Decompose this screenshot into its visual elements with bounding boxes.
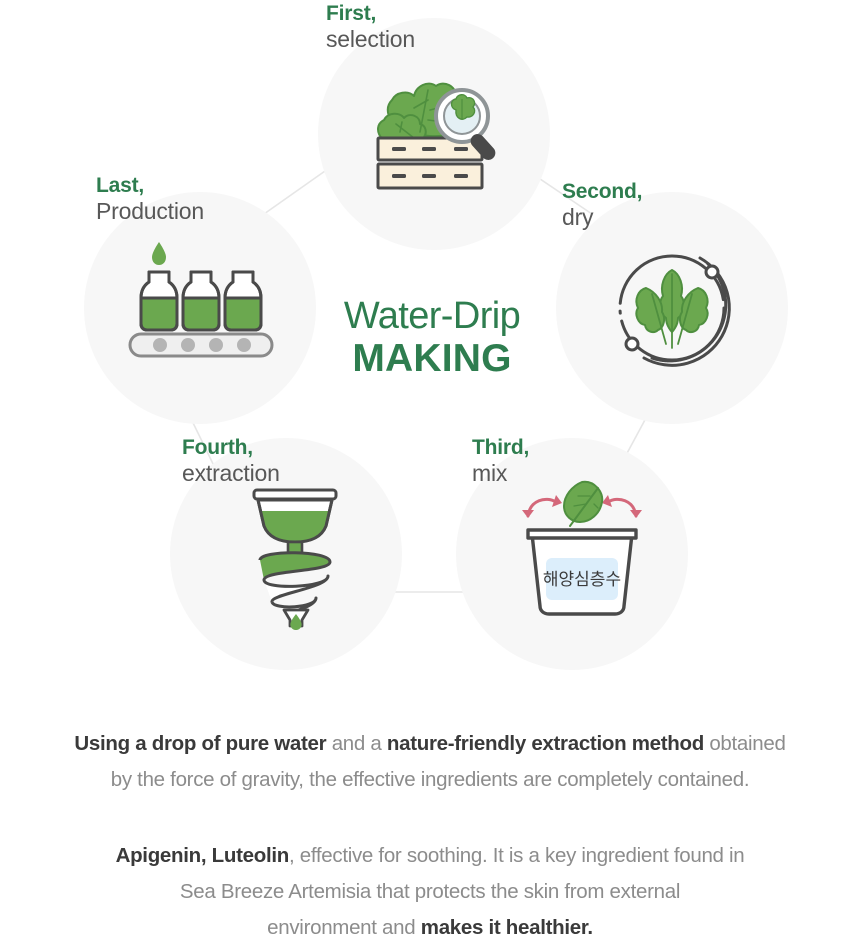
step-ordinal: Third,	[472, 436, 529, 460]
step-first-selection: First, selection	[318, 18, 550, 250]
step-name: extraction	[182, 460, 280, 486]
copy-line: Using a drop of pure water and a nature-…	[0, 726, 860, 762]
step-ordinal: Second,	[562, 180, 642, 204]
step-fourth-extraction: Fourth, extraction	[170, 438, 402, 670]
copy-bold-2: nature-friendly extraction method	[387, 732, 704, 755]
copy-line: Sea Breeze Artemisia that protects the s…	[0, 874, 860, 910]
crate-with-leaves-and-magnifier-icon	[366, 66, 514, 196]
copy-line: by the force of gravity, the effective i…	[0, 762, 860, 798]
copy-plain-1: and a	[326, 732, 387, 755]
step-first-label: First, selection	[326, 2, 415, 52]
description-copy: Using a drop of pure water and a nature-…	[0, 726, 860, 946]
step-name: Production	[96, 198, 204, 224]
step-third-label: Third, mix	[472, 436, 529, 486]
copy-paragraph-1: Using a drop of pure water and a nature-…	[0, 726, 860, 798]
bottles-on-conveyor-icon	[126, 240, 276, 360]
step-name: selection	[326, 26, 415, 52]
copy-bold-1: Using a drop of pure water	[74, 732, 326, 755]
copy-paragraph-2: Apigenin, Luteolin, effective for soothi…	[0, 838, 860, 946]
center-title-line1: Water-Drip	[272, 296, 592, 337]
copy-plain-4: environment and	[267, 916, 421, 939]
copy-plain-3: , effective for soothing. It is a key in…	[289, 844, 744, 867]
step-ordinal: First,	[326, 2, 415, 26]
copy-bold-3: Apigenin, Luteolin	[116, 844, 289, 867]
center-title-line2: MAKING	[272, 337, 592, 381]
step-second-label: Second, dry	[562, 180, 642, 230]
step-fourth-label: Fourth, extraction	[182, 436, 280, 486]
mixing-tub-icon: 해양심층수	[518, 478, 646, 618]
step-last-label: Last, Production	[96, 174, 204, 224]
copy-line: Apigenin, Luteolin, effective for soothi…	[0, 838, 860, 874]
copy-bold-4: makes it healthier.	[421, 916, 593, 939]
step-third-mix: Third, mix	[456, 438, 688, 670]
copy-plain-2: obtained	[704, 732, 786, 755]
step-ordinal: Last,	[96, 174, 204, 198]
step-name: mix	[472, 460, 529, 486]
center-title: Water-Drip MAKING	[272, 296, 592, 381]
copy-line: environment and makes it healthier.	[0, 910, 860, 946]
tub-label-text: 해양심층수	[543, 570, 621, 590]
extraction-funnel-icon	[240, 484, 350, 630]
step-name: dry	[562, 204, 642, 230]
water-drip-making-diagram: First, selection	[0, 0, 860, 712]
step-ordinal: Fourth,	[182, 436, 280, 460]
leaves-in-drying-circle-icon	[608, 244, 736, 372]
